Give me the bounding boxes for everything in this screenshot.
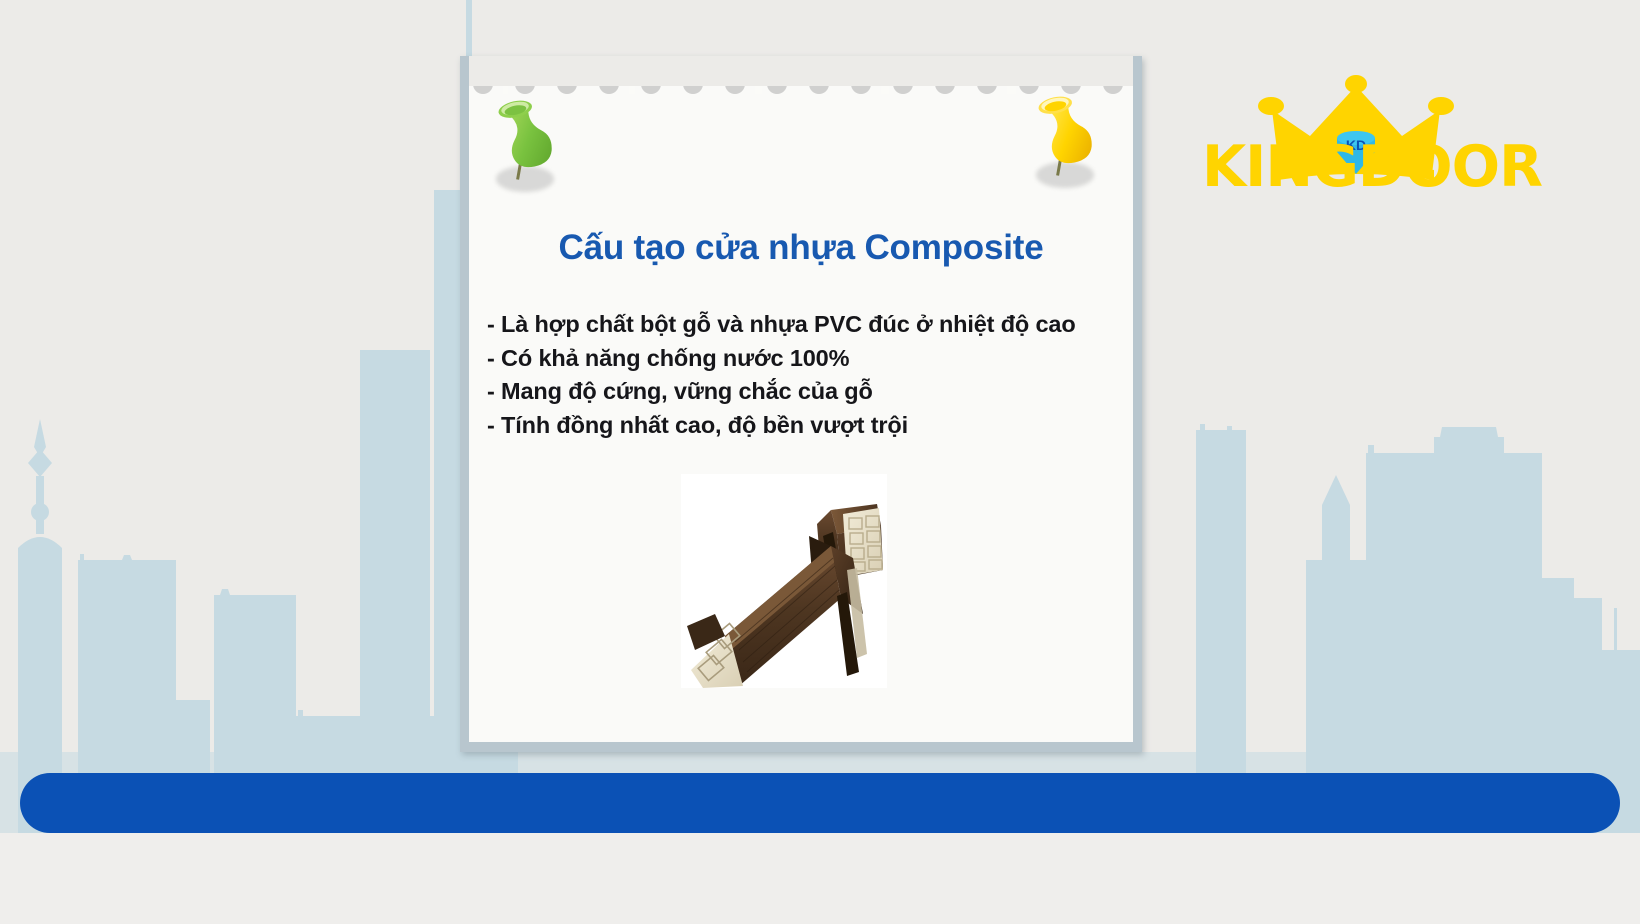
brand-logo[interactable]: KD KINGDOOR [1196, 62, 1516, 202]
list-item: - Có khả năng chống nước 100% [487, 342, 1137, 376]
list-item: - Là hợp chất bột gỗ và nhựa PVC đúc ở n… [487, 308, 1137, 342]
notepad-card: Cấu tạo cửa nhựa Composite - Là hợp chất… [460, 56, 1142, 752]
green-pushpin-icon [488, 88, 560, 198]
feature-list: - Là hợp chất bột gỗ và nhựa PVC đúc ở n… [487, 308, 1137, 442]
brand-wordmark: KINGDOOR [1202, 138, 1510, 196]
product-image [681, 474, 887, 688]
list-item: - Tính đồng nhất cao, độ bền vượt trội [487, 409, 1137, 443]
bottom-banner-bar[interactable] [20, 773, 1620, 833]
yellow-pushpin-icon [1028, 84, 1100, 194]
page-footer-strip [0, 833, 1640, 924]
bottom-banner-text [20, 773, 1620, 833]
page-title: Cấu tạo cửa nhựa Composite [469, 228, 1133, 268]
door-frame-cross-section-graphic [681, 474, 887, 688]
list-item: - Mang độ cứng, vững chắc của gỗ [487, 375, 1137, 409]
notepad-top-gap [469, 56, 1133, 86]
